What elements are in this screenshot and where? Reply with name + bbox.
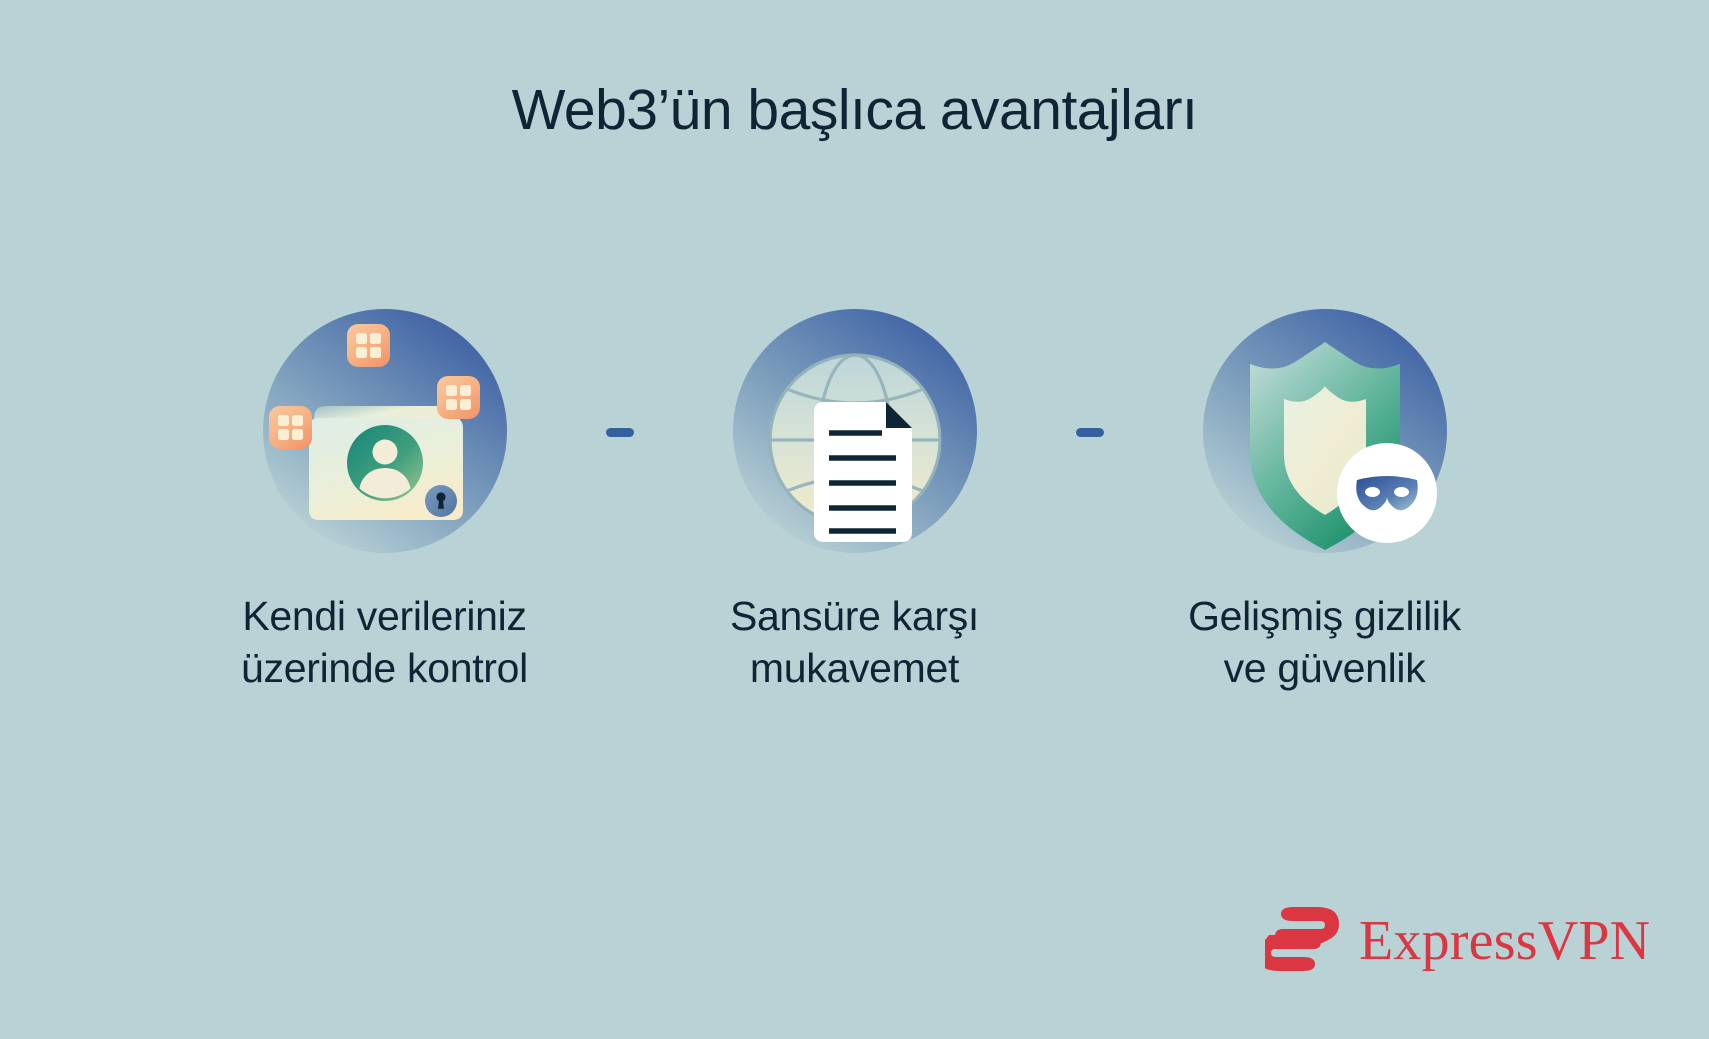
dash-icon [1076, 428, 1104, 437]
separator-1 [585, 300, 655, 437]
benefit-caption: Sansüre karşı mukavemet [730, 590, 979, 695]
benefit-card-control: Kendi verileriniz üzerinde kontrol [185, 300, 585, 695]
page-title: Web3’ün başlıca avantajları [0, 78, 1709, 144]
benefit-caption: Gelişmiş gizlilik ve güvenlik [1188, 590, 1461, 695]
expressvpn-wordmark: ExpressVPN [1359, 913, 1650, 969]
infographic-canvas: Web3’ün başlıca avantajları [0, 0, 1709, 1039]
benefit-card-censorship: Sansüre karşı mukavemet [655, 300, 1055, 695]
benefits-row: Kendi verileriniz üzerinde kontrol [0, 300, 1709, 695]
benefit-caption: Kendi verileriniz üzerinde kontrol [241, 590, 528, 695]
wallet-identity-icon [254, 300, 516, 562]
expressvpn-e-mark-icon [1265, 905, 1343, 977]
benefit-card-privacy: Gelişmiş gizlilik ve güvenlik [1125, 300, 1525, 695]
dash-icon [606, 428, 634, 437]
separator-2 [1055, 300, 1125, 437]
expressvpn-logo: ExpressVPN [1265, 905, 1650, 977]
shield-mask-icon [1194, 300, 1456, 562]
globe-document-icon [724, 300, 986, 562]
